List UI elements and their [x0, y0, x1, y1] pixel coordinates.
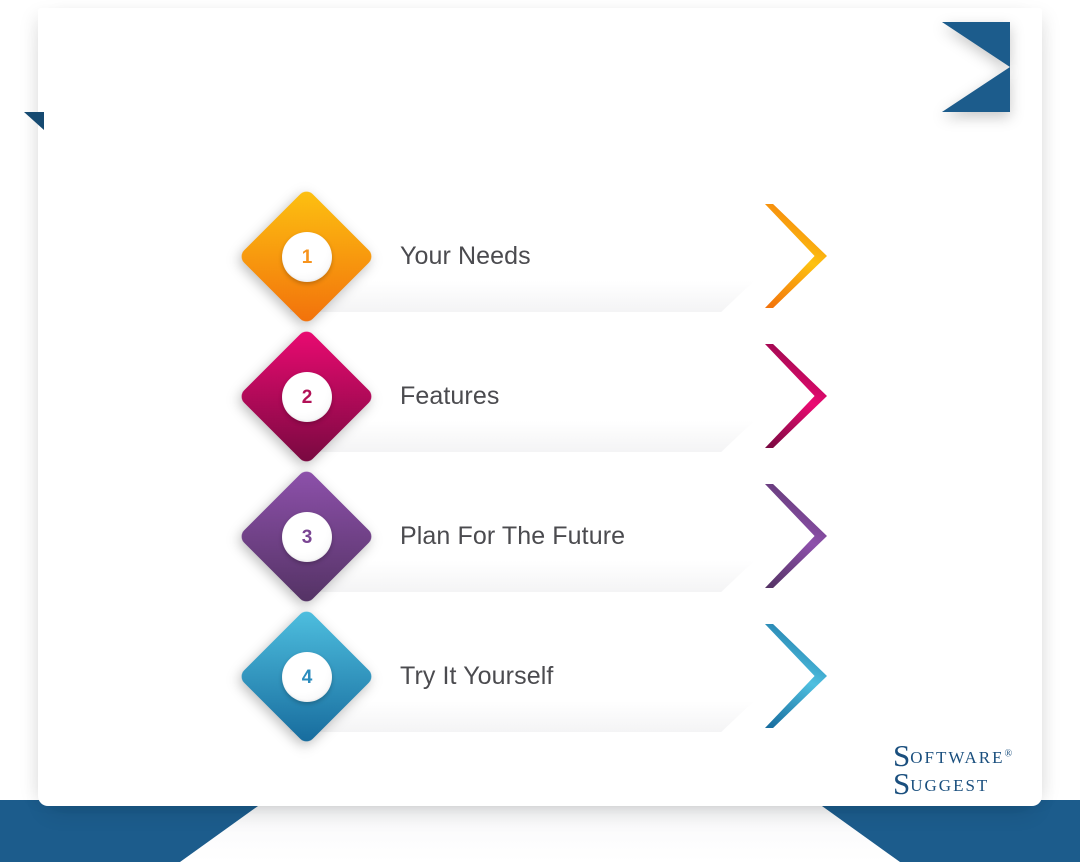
header-ribbon: How To Choose The Right LMS For Your Com… — [24, 22, 1010, 112]
page-title: How To Choose The Right LMS For Your Com… — [58, 22, 779, 112]
step-number: 3 — [302, 528, 313, 547]
step-row[interactable]: 4 Try It Yourself — [0, 606, 1004, 746]
steps-list: 1 Your Needs 2 Features 3 Plan For The F… — [0, 186, 1004, 746]
step-row[interactable]: 1 Your Needs — [0, 186, 1004, 326]
step-number: 1 — [302, 248, 313, 267]
step-number-badge: 4 — [282, 652, 332, 702]
logo-line-2: SUGGEST — [893, 770, 1025, 798]
step-number: 4 — [302, 668, 313, 687]
infographic-poster: How To Choose The Right LMS For Your Com… — [0, 0, 1080, 862]
step-number-badge: 1 — [282, 232, 332, 282]
softwaresuggest-logo: SOFTWARE® SUGGEST — [893, 742, 1025, 798]
logo-capital-s: S — [893, 766, 910, 801]
step-number-badge: 2 — [282, 372, 332, 422]
step-label: Your Needs — [400, 200, 531, 312]
logo-line-1: SOFTWARE® — [893, 742, 1025, 770]
step-number-badge: 3 — [282, 512, 332, 562]
registered-trademark-icon: ® — [1005, 749, 1013, 760]
bottom-white-trapezoid — [180, 800, 900, 862]
step-label: Plan For The Future — [400, 480, 625, 592]
step-row[interactable]: 3 Plan For The Future — [0, 466, 1004, 606]
step-row[interactable]: 2 Features — [0, 326, 1004, 466]
logo-suggest-text: UGGEST — [910, 776, 989, 795]
step-label: Try It Yourself — [400, 620, 553, 732]
step-label: Features — [400, 340, 499, 452]
logo-software-text: OFTWARE — [910, 748, 1004, 767]
step-number: 2 — [302, 388, 313, 407]
